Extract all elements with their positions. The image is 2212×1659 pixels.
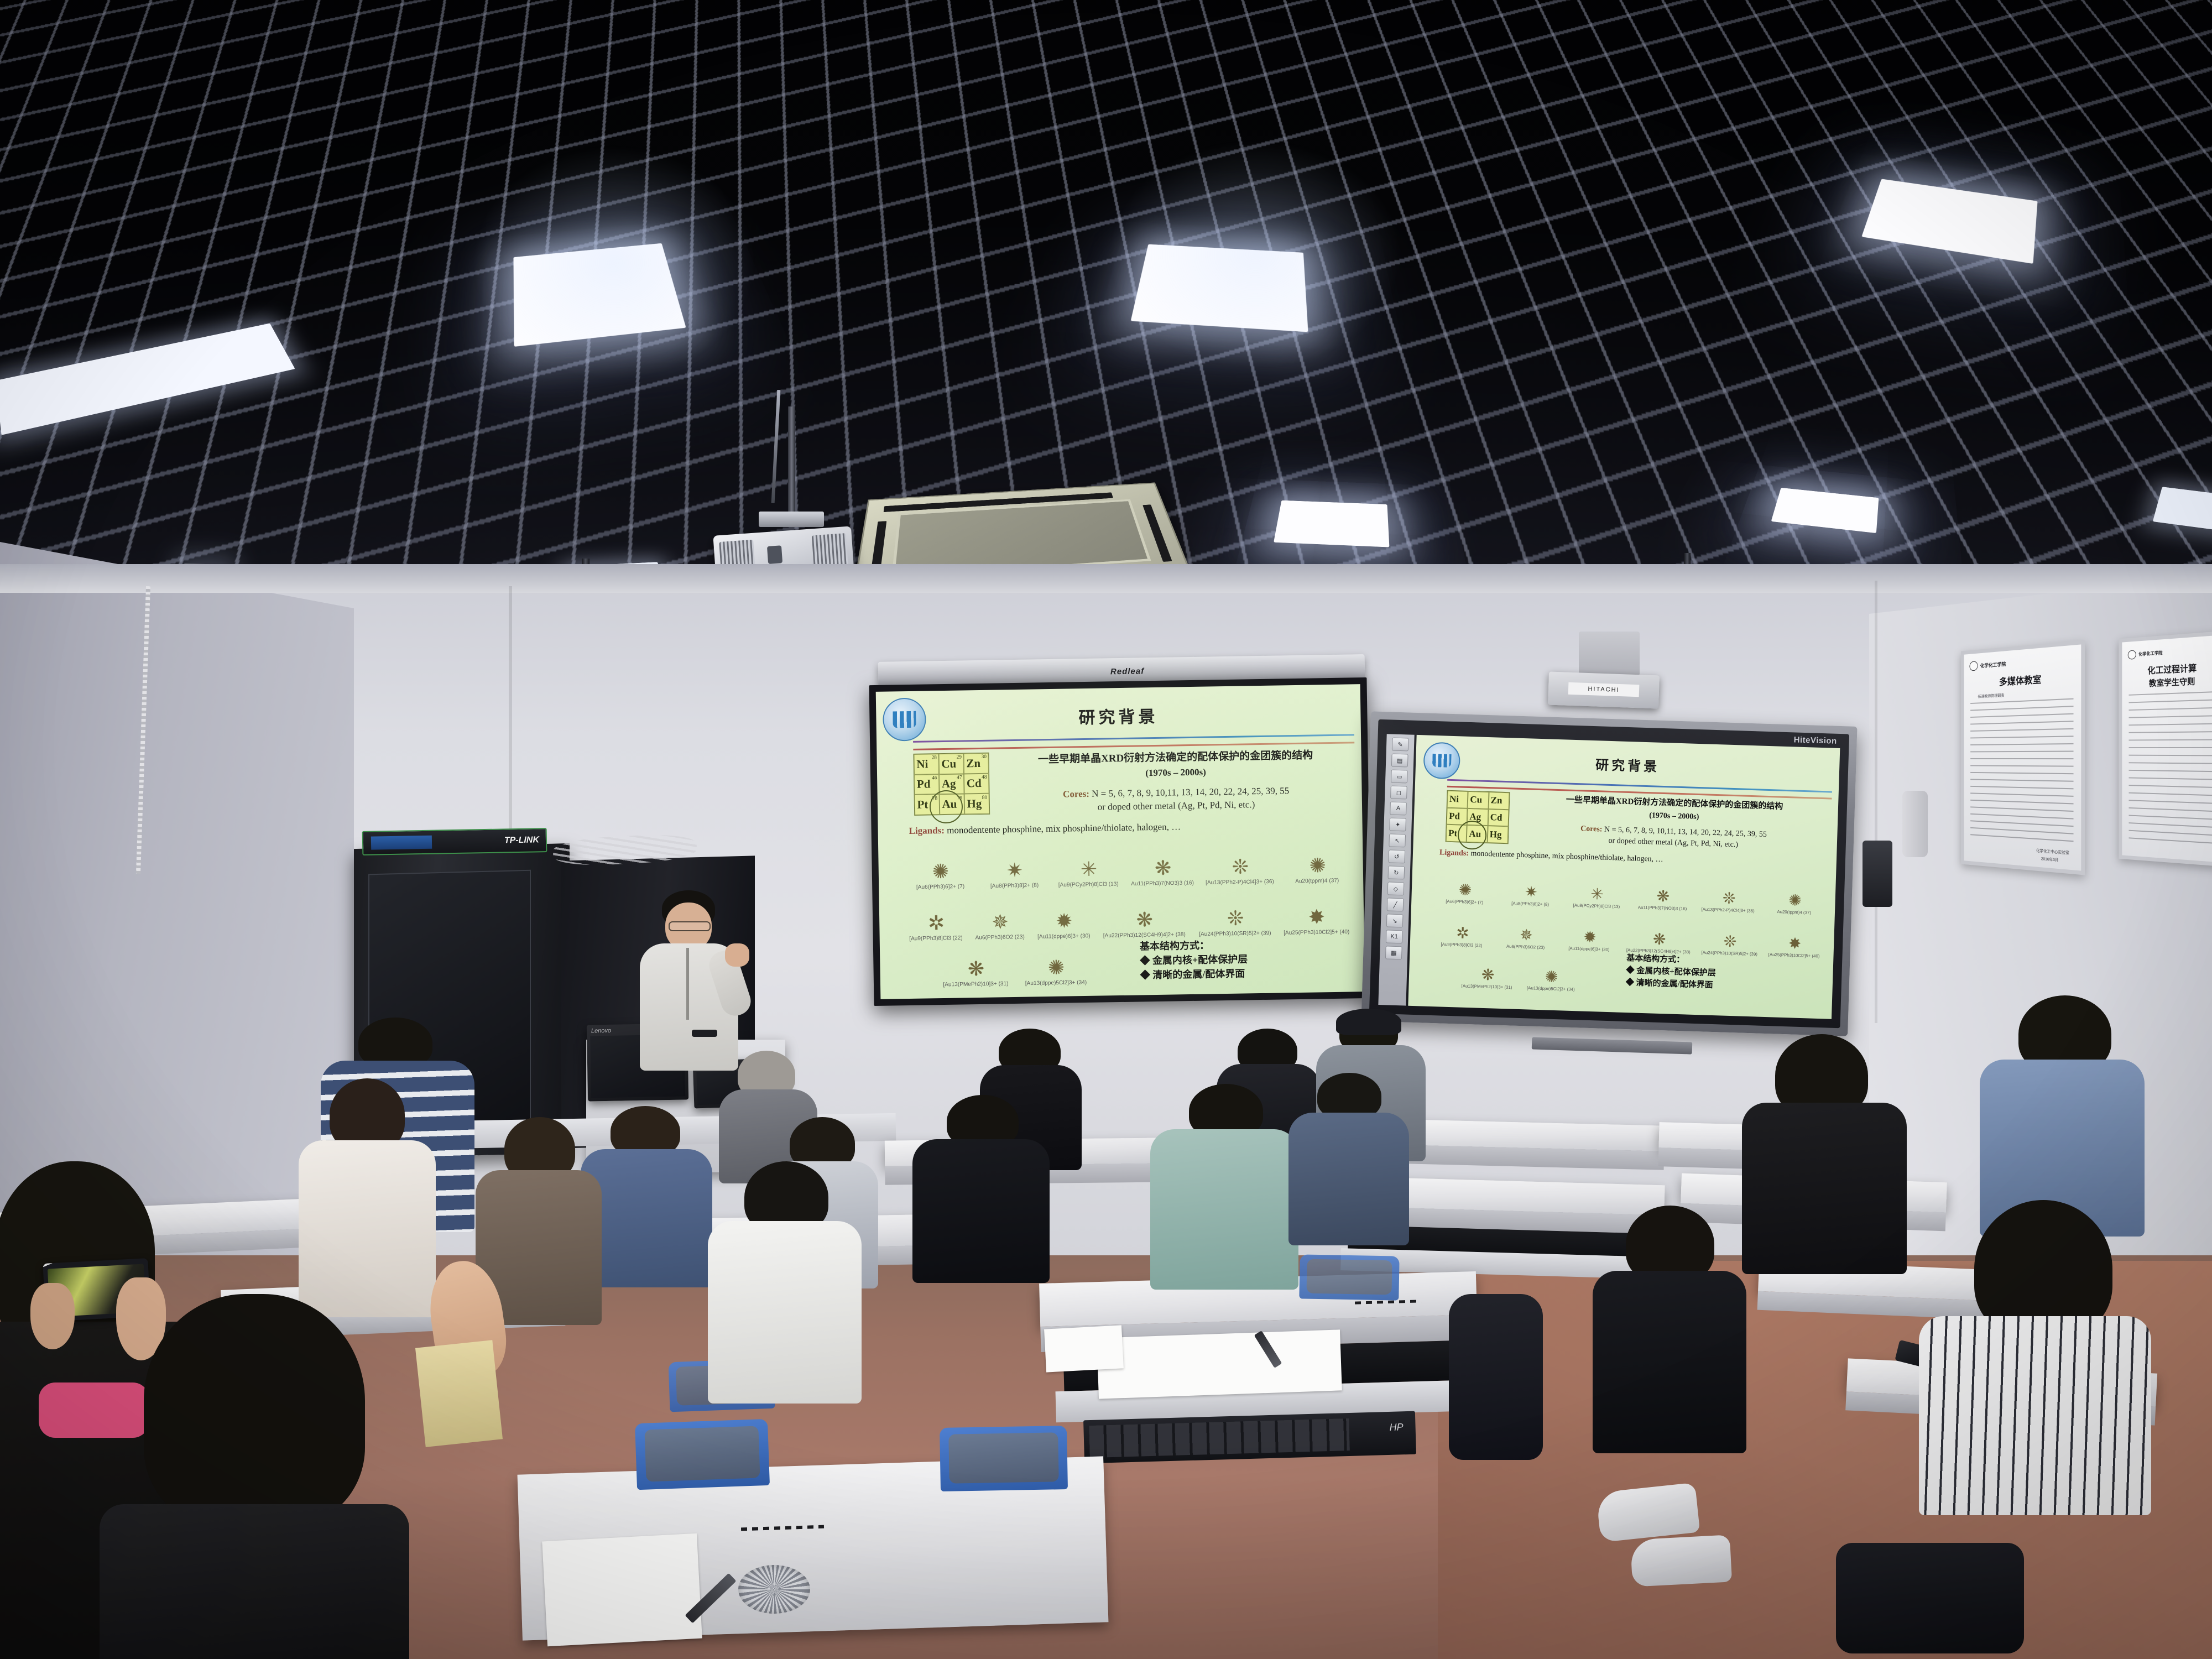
molecule-figure: ✲[Au9(PPh3)8]Cl3 (22) [1430,907,1495,949]
router-brand-label: TP-LINK [504,835,539,846]
molecule-row-1: ✺[Au6(PPh3)6]2+ (7) ✷[Au8(PPh3)8]2+ (8) … [1431,864,1828,916]
highlight-tool-icon[interactable]: ✦ [1389,817,1406,831]
molecule-figure: ❋Au11(PPh3)7(NO3)3 (16) [1629,870,1697,912]
grid-tool-icon[interactable]: ▩ [1385,946,1402,959]
projector-brand-label: HITACHI [1568,682,1640,697]
cores-label: Cores: [1063,789,1089,800]
molecule-figure: ✷[Au8(PPh3)8]2+ (8) [1497,866,1564,908]
audience-member-foreground [100,1294,409,1659]
molecule-row-1: ✺[Au6(PPh3)6]2+ (7) ✷[Au8(PPh3)8]2+ (8) … [902,836,1354,891]
audience-member [1742,1034,1908,1266]
molecule-figure: ❋[Au22(PPh3)12(SC4H9)4]2+ (38) [1095,890,1193,940]
cores-values: N = 5, 6, 7, 8, 9, 10,11, 13, 14, 20, 22… [1092,785,1289,799]
molecule-figure: ✵Au6(PPh3)6O2 (23) [967,893,1032,942]
line-tool-icon[interactable]: ╱ [1387,898,1404,911]
slide-divider [1447,779,1832,793]
wall-sign-student-rules: 化学化工学院 化工过程计算 教室学生守则 [2119,630,2212,867]
whiteboard-brand-label: HiteVision [1793,735,1837,745]
molecule-figure: ✺Au20(tppm)4 (37) [1761,874,1829,916]
college-logo-icon [1970,661,1978,671]
hair-scrunchie [738,1565,810,1614]
bag-on-floor [1836,1543,2024,1653]
ceiling-light-panel [1131,244,1308,332]
element-cell: Cu [1468,791,1489,809]
screen-brand-label: Redleaf [1110,666,1144,676]
presenter-glasses-icon [669,921,711,931]
element-cell: Cd [1488,809,1509,827]
molecule-row-2: ✲[Au9(PPh3)8]Cl3 (22) ✵Au6(PPh3)6O2 (23)… [1430,907,1827,959]
molecule-figure: ❋Au11(PPh3)7(NO3)3 (16) [1125,839,1199,888]
audience-member [1980,995,2146,1228]
eraser-tool-icon[interactable]: ◇ [1387,881,1405,895]
audience-member [299,1078,437,1311]
molecule-figure: ❊[Au24(PPh3)10(SR)5]2+ (39) [1192,889,1278,938]
classroom-chair[interactable] [1299,1254,1399,1300]
wall-sign-title: 多媒体教室 [1964,669,2081,690]
open-notebook [1097,1329,1342,1399]
audience-member [1150,1084,1300,1283]
wall-sign-footer-org: 化学化工中心实验室 [2036,848,2069,856]
molecule-figure: ✹[Au11(dppe)6]3+ (30) [1557,911,1622,953]
slide-basic-structure: 基本结构方式： ◆ 金属内核+配体保护层 ◆ 清晰的金属/配体界面 [1140,937,1248,982]
wall-sign-body [2129,691,2212,848]
molecule-row-3: ❋[Au13(PMePh2)10]3+ (31) ✺[Au13(dppe)5Cl… [1455,951,1583,992]
hitachi-short-throw-projector: HITACHI [1548,672,1660,709]
wall-pipe [1902,791,1928,857]
molecule-figure: ✳[Au9(PCy2Ph)8]Cl3 (13) [1051,840,1125,889]
molecule-figure: ✺[Au13(dppe)5Cl2]3+ (34) [1015,942,1096,987]
slide-title: 研究背景 [876,700,1361,732]
slide-title: 研究背景 [1416,748,1840,781]
molecule-row-3: ❋[Au13(PMePh2)10]3+ (31) ✺[Au13(dppe)5Cl… [935,942,1096,989]
molecule-figure: ❋[Au22(PPh3)12(SC4H9)4]2+ (38) [1621,913,1697,955]
molecule-figure: ✲[Au9(PPh3)8]Cl3 (22) [903,894,968,942]
slide-heading-line2: (1970s – 2000s) [994,764,1357,781]
au-highlight-circle [1457,820,1487,850]
ligands-label: Ligands: [909,825,945,836]
element-cell: Pd46 [914,774,940,795]
element-cell: Cu29 [938,753,964,774]
keyboard-brand-label: HP [1389,1421,1404,1433]
slide-ligands: Ligands: monodentente phosphine, mix pho… [909,818,1358,837]
projector-mount-plate [759,512,824,527]
wall-sign-subtitle: 任课教师管理职责 [1978,692,2005,699]
audience-member [708,1161,863,1394]
select-tool-icon[interactable]: ↖ [1389,833,1406,847]
classroom-chair[interactable] [940,1426,1068,1491]
molecule-figure: ❊[Au24(PPh3)10(SR)5]2+ (39) [1696,915,1764,957]
molecule-figure: ✳[Au9(PCy2Ph)8]Cl3 (13) [1563,868,1631,910]
element-cell: Cd48 [964,773,989,794]
element-cell: Ni [1447,791,1468,808]
molecule-figure: ✸[Au25(PPh3)10Cl2]5+ (40) [1762,917,1827,959]
wall-soffit [0,564,2212,593]
text-tool-icon[interactable]: A [1390,801,1407,815]
ceiling-light-panel [1274,500,1389,547]
whiteboard-side-speaker [1863,841,1892,907]
presenter-lanyard [686,948,689,1020]
wall-seam [1875,581,1877,1023]
molecule-figure: ✺Au20(tppm)4 (37) [1280,836,1354,885]
molecule-figure: ❋[Au13(PMePh2)10]3+ (31) [1455,951,1520,990]
element-cell: Hg80 [964,794,990,814]
molecule-figure: ❋[Au13(PMePh2)10]3+ (31) [935,943,1016,988]
molecule-row-2: ✲[Au9(PPh3)8]Cl3 (22) ✵Au6(PPh3)6O2 (23)… [903,888,1355,942]
slide-divider [913,734,1354,743]
hand-left [30,1283,75,1349]
wall-sign-org: 化学化工学院 [2138,650,2162,658]
basic-structure-bullet-2: ◆ 清晰的金属/配体界面 [1140,967,1248,983]
page-tool-icon[interactable]: ▭ [1391,770,1408,784]
loose-paper [1044,1325,1124,1372]
slide-main: 研究背景 Ni28 Cu29 Zn30 Pd46 Ag47 Cd48 Pt78 … [876,684,1365,999]
shoe [1630,1535,1732,1587]
au-highlight-circle [930,790,963,823]
molecule-figure: ❊[Au13(PPh2-P)4Cl4]3+ (36) [1695,872,1762,914]
molecule-figure: ✺[Au6(PPh3)6]2+ (7) [902,842,977,891]
element-cell: Ni28 [914,754,939,774]
wall-sign-org: 化学化工学院 [1980,660,2006,669]
pen-tool-icon[interactable]: ✎ [1392,738,1409,752]
molecule-figure: ✵Au6(PPh3)6O2 (23) [1494,909,1558,951]
element-cell: Hg [1487,826,1508,843]
loose-paper [542,1533,702,1646]
presenter-pointer[interactable] [692,1030,717,1037]
projector-wall-bracket [1579,632,1640,676]
lecture-hall-photo: 化学化工学院 多媒体教室 任课教师管理职责 化学化工中心实验室 2016年3月 … [0,0,2212,1659]
monitor-brand-label: Lenovo [591,1027,611,1035]
undo-tool-icon[interactable]: ↺ [1388,849,1405,863]
ligands-label: Ligands: [1439,848,1469,858]
ligands-text: monodentente phosphine, mix phosphine/th… [947,821,1181,836]
presenter [628,890,755,1073]
molecule-figure: ✺[Au6(PPh3)6]2+ (7) [1431,864,1499,906]
college-logo-icon [2128,650,2136,660]
interactive-whiteboard[interactable]: HiteVision ✎ ▤ ▭ ◻ A ✦ ↖ ↺ ↻ ◇ ╱ ↘ K1 ▩ … [1361,711,1857,1036]
baseball-cap-icon [1336,1009,1401,1035]
element-cell: Zn30 [963,753,989,774]
molecule-figure: ✺[Au13(dppe)5Cl2]3+ (34) [1519,953,1583,993]
audience-member [1919,1200,2151,1510]
audience-member [1288,1073,1410,1239]
molecule-figure: ✸[Au25(PPh3)10Cl2]5+ (40) [1277,888,1355,936]
basic-structure-bullet-1: ◆ 金属内核+配体保护层 [1140,952,1248,968]
basic-structure-title: 基本结构方式： [1140,937,1248,953]
wall-sign-body [1970,698,2073,846]
molecule-figure: ❊[Au13(PPh2-P)4Cl4]3+ (36) [1199,837,1280,886]
projection-screen: 研究背景 Ni28 Cu29 Zn30 Pd46 Ag47 Cd48 Pt78 … [869,677,1372,1006]
save-tool-icon[interactable]: ▤ [1391,754,1408,768]
molecule-figure: ✷[Au8(PPh3)8]2+ (8) [977,841,1051,890]
ligands-text: monodentente phosphine, mix phosphine/th… [1470,849,1663,864]
wall-sign-multimedia-classroom: 化学化工学院 多媒体教室 任课教师管理职责 化学化工中心实验室 2016年3月 [1961,640,2085,875]
arrow-tool-icon[interactable]: ↘ [1386,914,1404,927]
basic-structure-bullet-2: ◆ 清晰的金属/配体界面 [1625,977,1715,992]
redo-tool-icon[interactable]: ↻ [1388,865,1405,879]
backpack [1449,1294,1543,1460]
cores-label: Cores: [1580,825,1603,833]
audience-member [912,1095,1051,1277]
molecule-figure: ✹[Au11(dppe)6]3+ (30) [1031,892,1096,941]
shape-tool-icon[interactable]: ◻ [1390,786,1407,800]
wall-sign-footer-date: 2016年3月 [2041,856,2059,863]
keyboard-tool-icon[interactable]: K1 [1386,930,1403,943]
slide-basic-structure: 基本结构方式： ◆ 金属内核+配体保护层 ◆ 清晰的金属/配体界面 [1625,953,1716,992]
yellow-notebook [415,1340,503,1447]
tp-link-router: TP-LINK [362,828,547,855]
element-cell: Zn [1488,792,1509,810]
classroom-chair[interactable] [635,1419,770,1490]
audience-member [1593,1206,1747,1449]
presenter-hand [725,943,749,967]
projector-mount-pole [788,406,795,517]
slide-mirror: 研究背景 Ni Cu Zn Pd Ag Cd Pt Au Hg 一些早期单晶XR… [1408,735,1840,1019]
